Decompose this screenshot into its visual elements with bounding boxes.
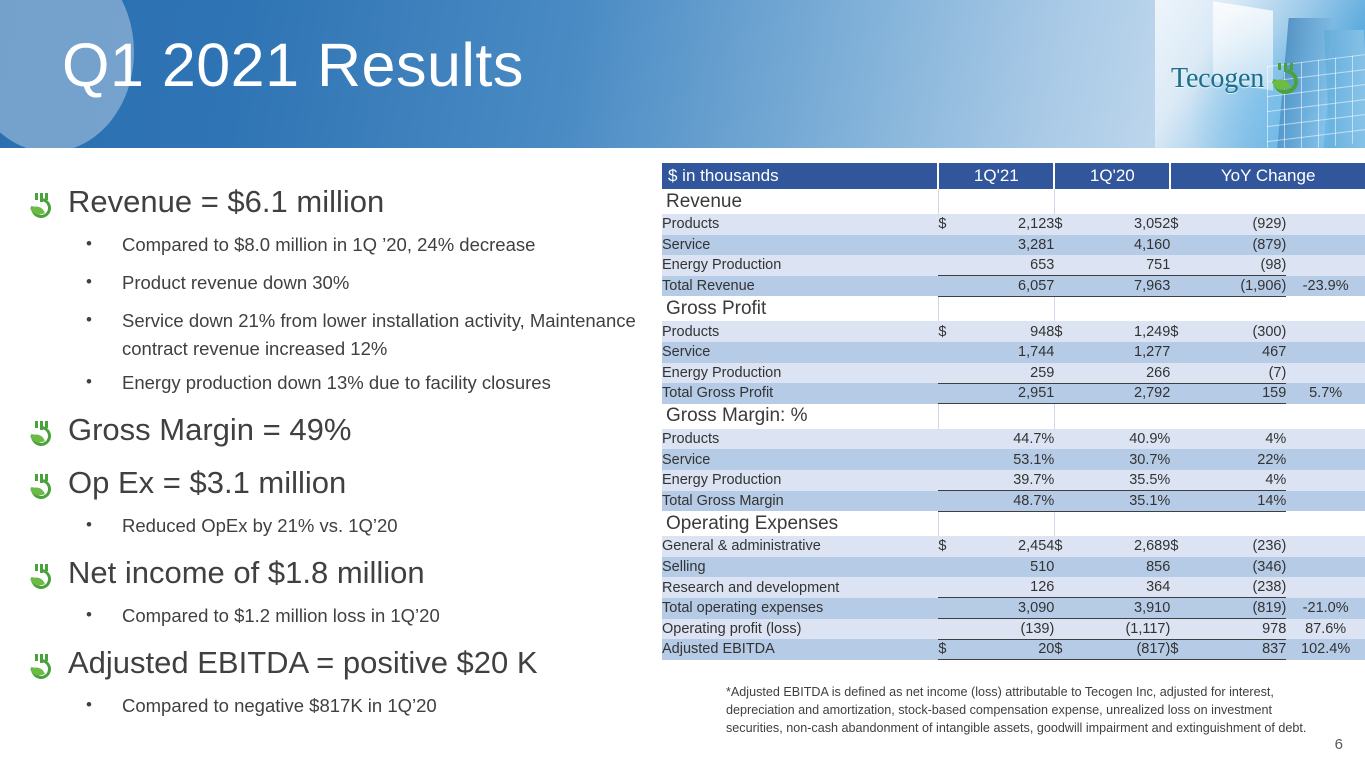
cell-1q20: (1,117) [1077,619,1171,640]
table-total-row: Adjusted EBITDA $ 20 $ (817) $ 837 102.4… [662,639,1365,660]
cell-yoy-pct: 5.7% [1286,383,1365,404]
cell-yoy: (98) [1193,255,1287,276]
cell-1q21: 3,090 [961,598,1055,619]
cell-yoy-pct: 87.6% [1286,619,1365,640]
cell-yoy: (7) [1193,363,1287,384]
row-label: Energy Production [662,363,938,384]
currency-symbol: $ [938,639,960,660]
row-label: Energy Production [662,470,938,491]
sub-list-item: • Service down 21% from lower installati… [0,307,660,364]
currency-symbol: $ [1170,536,1192,557]
list-item: Revenue = $6.1 million [0,182,660,222]
row-label: Service [662,235,938,256]
bullet-dot-icon: • [84,269,94,295]
row-label: Total Gross Margin [662,491,938,512]
currency-symbol: $ [938,536,960,557]
cell-1q21: 6,057 [961,276,1055,297]
table-row: Selling 510 856 (346) [662,557,1365,578]
currency-symbol [1170,491,1192,512]
list-item: Adjusted EBITDA = positive $20 K [0,643,660,683]
currency-symbol [938,577,960,598]
cell-1q20: 7,963 [1077,276,1171,297]
sub-list-item: • Product revenue down 30% [0,269,660,298]
currency-symbol [938,470,960,491]
table-total-row: Total Gross Profit 2,951 2,792 159 5.7% [662,383,1365,404]
cell-yoy-pct [1286,255,1365,276]
row-label: Total Gross Profit [662,383,938,404]
table-row: Products $ 2,123 $ 3,052 $ (929) [662,214,1365,235]
currency-symbol [1170,577,1192,598]
bullet-dot-icon: • [84,512,94,538]
sub-bullet-text: Compared to $8.0 million in 1Q ’20, 24% … [122,231,535,260]
table-row: Products 44.7% 40.9% 4% [662,429,1365,450]
table-header-1q20: 1Q'20 [1054,163,1170,189]
list-item: Op Ex = $3.1 million [0,463,660,503]
slide-header: Q1 2021 Results Tecogen [0,0,1365,148]
currency-symbol [938,342,960,363]
table-row: Operating profit (loss) (139) (1,117) 97… [662,619,1365,640]
cell-yoy-pct [1286,321,1365,342]
cell-1q21: 126 [961,577,1055,598]
currency-symbol [1054,577,1076,598]
sub-list-item: • Reduced OpEx by 21% vs. 1Q’20 [0,512,660,541]
bullet-text: Revenue = $6.1 million [68,182,384,222]
cell-1q20: 30.7% [1077,449,1171,470]
currency-symbol: $ [1054,214,1076,235]
table-section-header: Operating Expenses [662,511,1365,536]
currency-symbol [938,619,960,640]
bullet-dot-icon: • [84,369,94,395]
financial-results-table: $ in thousands 1Q'21 1Q'20 YoY Change Re… [662,163,1365,660]
row-label: Products [662,429,938,450]
currency-symbol [1054,557,1076,578]
table-header-1q21: 1Q'21 [938,163,1054,189]
currency-symbol: $ [938,214,960,235]
cell-1q21: 3,281 [961,235,1055,256]
cell-1q20: 751 [1077,255,1171,276]
cell-yoy: (1,906) [1193,276,1287,297]
currency-symbol [938,429,960,450]
cell-1q21: 510 [961,557,1055,578]
sub-bullet-text: Energy production down 13% due to facili… [122,369,551,398]
currency-symbol [938,255,960,276]
cell-1q21: 1,744 [961,342,1055,363]
cell-yoy: (238) [1193,577,1287,598]
tecogen-leaf-bullet-icon [26,473,54,503]
currency-symbol [1170,255,1192,276]
cell-1q20: 856 [1077,557,1171,578]
cell-yoy-pct [1286,449,1365,470]
currency-symbol [938,491,960,512]
currency-symbol [1054,276,1076,297]
cell-yoy: (819) [1193,598,1287,619]
table-row: Service 3,281 4,160 (879) [662,235,1365,256]
table-row: Products $ 948 $ 1,249 $ (300) [662,321,1365,342]
currency-symbol [1054,449,1076,470]
row-label: Products [662,214,938,235]
bullet-text: Op Ex = $3.1 million [68,463,346,503]
cell-yoy-pct: -21.0% [1286,598,1365,619]
cell-1q20: 35.1% [1077,491,1171,512]
sub-list-item: • Compared to $1.2 million loss in 1Q’20 [0,602,660,631]
currency-symbol [938,598,960,619]
currency-symbol: $ [1054,321,1076,342]
bullet-text: Net income of $1.8 million [68,553,425,593]
tecogen-leaf-bullet-icon [26,563,54,593]
tecogen-leaf-bullet-icon [26,192,54,222]
table-total-row: Total Revenue 6,057 7,963 (1,906) -23.9% [662,276,1365,297]
sub-bullet-text: Compared to $1.2 million loss in 1Q’20 [122,602,440,631]
cell-yoy: 467 [1193,342,1287,363]
row-label: Operating profit (loss) [662,619,938,640]
row-label: Research and development [662,577,938,598]
sub-list-item: • Compared to $8.0 million in 1Q ’20, 24… [0,231,660,260]
cell-yoy-pct [1286,342,1365,363]
currency-symbol [938,449,960,470]
bullet-dot-icon: • [84,692,94,718]
cell-yoy-pct [1286,491,1365,512]
table-row: Service 1,744 1,277 467 [662,342,1365,363]
cell-1q21: 20 [961,639,1055,660]
currency-symbol [1170,429,1192,450]
cell-yoy-pct [1286,536,1365,557]
currency-symbol [1170,383,1192,404]
cell-1q21: 53.1% [961,449,1055,470]
table-header-row: $ in thousands 1Q'21 1Q'20 YoY Change [662,163,1365,189]
tecogen-leaf-plug-icon [1265,62,1305,96]
sub-bullet-text: Reduced OpEx by 21% vs. 1Q’20 [122,512,398,541]
section-title: Revenue [662,189,938,214]
currency-symbol [1054,255,1076,276]
tecogen-leaf-bullet-icon [26,420,54,450]
currency-symbol: $ [938,321,960,342]
list-item: Net income of $1.8 million [0,553,660,593]
sub-bullet-text: Compared to negative $817K in 1Q’20 [122,692,437,721]
cell-1q21: 2,454 [961,536,1055,557]
cell-1q21: 259 [961,363,1055,384]
tecogen-leaf-bullet-icon [26,653,54,683]
cell-yoy-pct [1286,363,1365,384]
cell-yoy-pct [1286,577,1365,598]
table-row: Energy Production 259 266 (7) [662,363,1365,384]
currency-symbol [1170,363,1192,384]
cell-1q20: 2,689 [1077,536,1171,557]
sub-bullet-text: Service down 21% from lower installation… [122,307,656,364]
section-title: Gross Profit [662,296,938,321]
table-row: Energy Production 653 751 (98) [662,255,1365,276]
table-header-yoy: YoY Change [1170,163,1365,189]
tecogen-logo: Tecogen [1171,62,1305,96]
currency-symbol [938,363,960,384]
currency-symbol [1170,449,1192,470]
cell-1q21: 2,123 [961,214,1055,235]
cell-yoy: (879) [1193,235,1287,256]
bullet-text: Gross Margin = 49% [68,410,351,450]
row-label: Products [662,321,938,342]
table-row: Service 53.1% 30.7% 22% [662,449,1365,470]
currency-symbol [1170,557,1192,578]
cell-1q21: 2,951 [961,383,1055,404]
cell-yoy: (929) [1193,214,1287,235]
cell-yoy-pct: 102.4% [1286,639,1365,660]
sub-list-item: • Compared to negative $817K in 1Q’20 [0,692,660,721]
page-title: Q1 2021 Results [62,30,524,100]
currency-symbol [1170,619,1192,640]
cell-yoy: 14% [1193,491,1287,512]
currency-symbol [1054,470,1076,491]
cell-yoy: (346) [1193,557,1287,578]
table-row: General & administrative $ 2,454 $ 2,689… [662,536,1365,557]
currency-symbol [938,557,960,578]
bullet-text: Adjusted EBITDA = positive $20 K [68,643,538,683]
bullet-list: Revenue = $6.1 million • Compared to $8.… [0,148,660,768]
currency-symbol [1054,235,1076,256]
cell-1q21: 653 [961,255,1055,276]
list-item: Gross Margin = 49% [0,410,660,450]
currency-symbol: $ [1170,321,1192,342]
row-label: Energy Production [662,255,938,276]
cell-yoy: 159 [1193,383,1287,404]
sub-bullet-text: Product revenue down 30% [122,269,349,298]
cell-1q20: (817) [1077,639,1171,660]
cell-yoy-pct [1286,235,1365,256]
cell-1q21: (139) [961,619,1055,640]
cell-yoy-pct [1286,429,1365,450]
cell-1q20: 2,792 [1077,383,1171,404]
cell-yoy: (300) [1193,321,1287,342]
cell-yoy: 4% [1193,429,1287,450]
slide: Q1 2021 Results Tecogen [0,0,1365,768]
cell-yoy: 22% [1193,449,1287,470]
cell-yoy: 978 [1193,619,1287,640]
table-row: Research and development 126 364 (238) [662,577,1365,598]
row-label: Selling [662,557,938,578]
logo-wordmark: Tecogen [1171,63,1264,95]
currency-symbol [1170,342,1192,363]
cell-1q21: 39.7% [961,470,1055,491]
row-label: General & administrative [662,536,938,557]
sub-list-item: • Energy production down 13% due to faci… [0,369,660,398]
cell-yoy: 4% [1193,470,1287,491]
cell-1q21: 44.7% [961,429,1055,450]
table-section-header: Revenue [662,189,1365,214]
table-section-header: Gross Profit [662,296,1365,321]
currency-symbol [1054,491,1076,512]
cell-1q21: 948 [961,321,1055,342]
section-title: Gross Margin: % [662,404,938,429]
currency-symbol [1170,276,1192,297]
table-section-header: Gross Margin: % [662,404,1365,429]
cell-1q20: 364 [1077,577,1171,598]
cell-1q20: 4,160 [1077,235,1171,256]
cell-yoy-pct [1286,470,1365,491]
cell-1q20: 1,249 [1077,321,1171,342]
footnote-text: *Adjusted EBITDA is defined as net incom… [726,684,1326,738]
currency-symbol [1170,598,1192,619]
currency-symbol [1054,619,1076,640]
table-header-label: $ in thousands [662,163,938,189]
cell-1q20: 40.9% [1077,429,1171,450]
cell-1q20: 35.5% [1077,470,1171,491]
bullet-dot-icon: • [84,602,94,628]
section-title: Operating Expenses [662,511,938,536]
page-number: 6 [1335,736,1343,753]
bullet-dot-icon: • [84,307,94,333]
header-building-photo: Tecogen [1155,0,1365,148]
cell-yoy-pct: -23.9% [1286,276,1365,297]
cell-1q20: 3,910 [1077,598,1171,619]
bullet-dot-icon: • [84,231,94,257]
cell-yoy-pct [1286,557,1365,578]
currency-symbol [1054,383,1076,404]
currency-symbol [1054,429,1076,450]
currency-symbol: $ [1054,536,1076,557]
currency-symbol [1054,598,1076,619]
currency-symbol [1054,363,1076,384]
currency-symbol [1054,342,1076,363]
cell-1q20: 266 [1077,363,1171,384]
currency-symbol [938,383,960,404]
currency-symbol [1170,235,1192,256]
cell-1q20: 1,277 [1077,342,1171,363]
table-total-row: Total operating expenses 3,090 3,910 (81… [662,598,1365,619]
currency-symbol: $ [1170,214,1192,235]
table-total-row: Total Gross Margin 48.7% 35.1% 14% [662,491,1365,512]
cell-yoy: (236) [1193,536,1287,557]
cell-yoy-pct [1286,214,1365,235]
cell-1q21: 48.7% [961,491,1055,512]
row-label: Service [662,449,938,470]
currency-symbol [938,235,960,256]
currency-symbol: $ [1054,639,1076,660]
currency-symbol: $ [1170,639,1192,660]
currency-symbol [938,276,960,297]
row-label: Service [662,342,938,363]
table-row: Energy Production 39.7% 35.5% 4% [662,470,1365,491]
row-label: Total operating expenses [662,598,938,619]
currency-symbol [1170,470,1192,491]
row-label: Adjusted EBITDA [662,639,938,660]
cell-yoy: 837 [1193,639,1287,660]
row-label: Total Revenue [662,276,938,297]
cell-1q20: 3,052 [1077,214,1171,235]
